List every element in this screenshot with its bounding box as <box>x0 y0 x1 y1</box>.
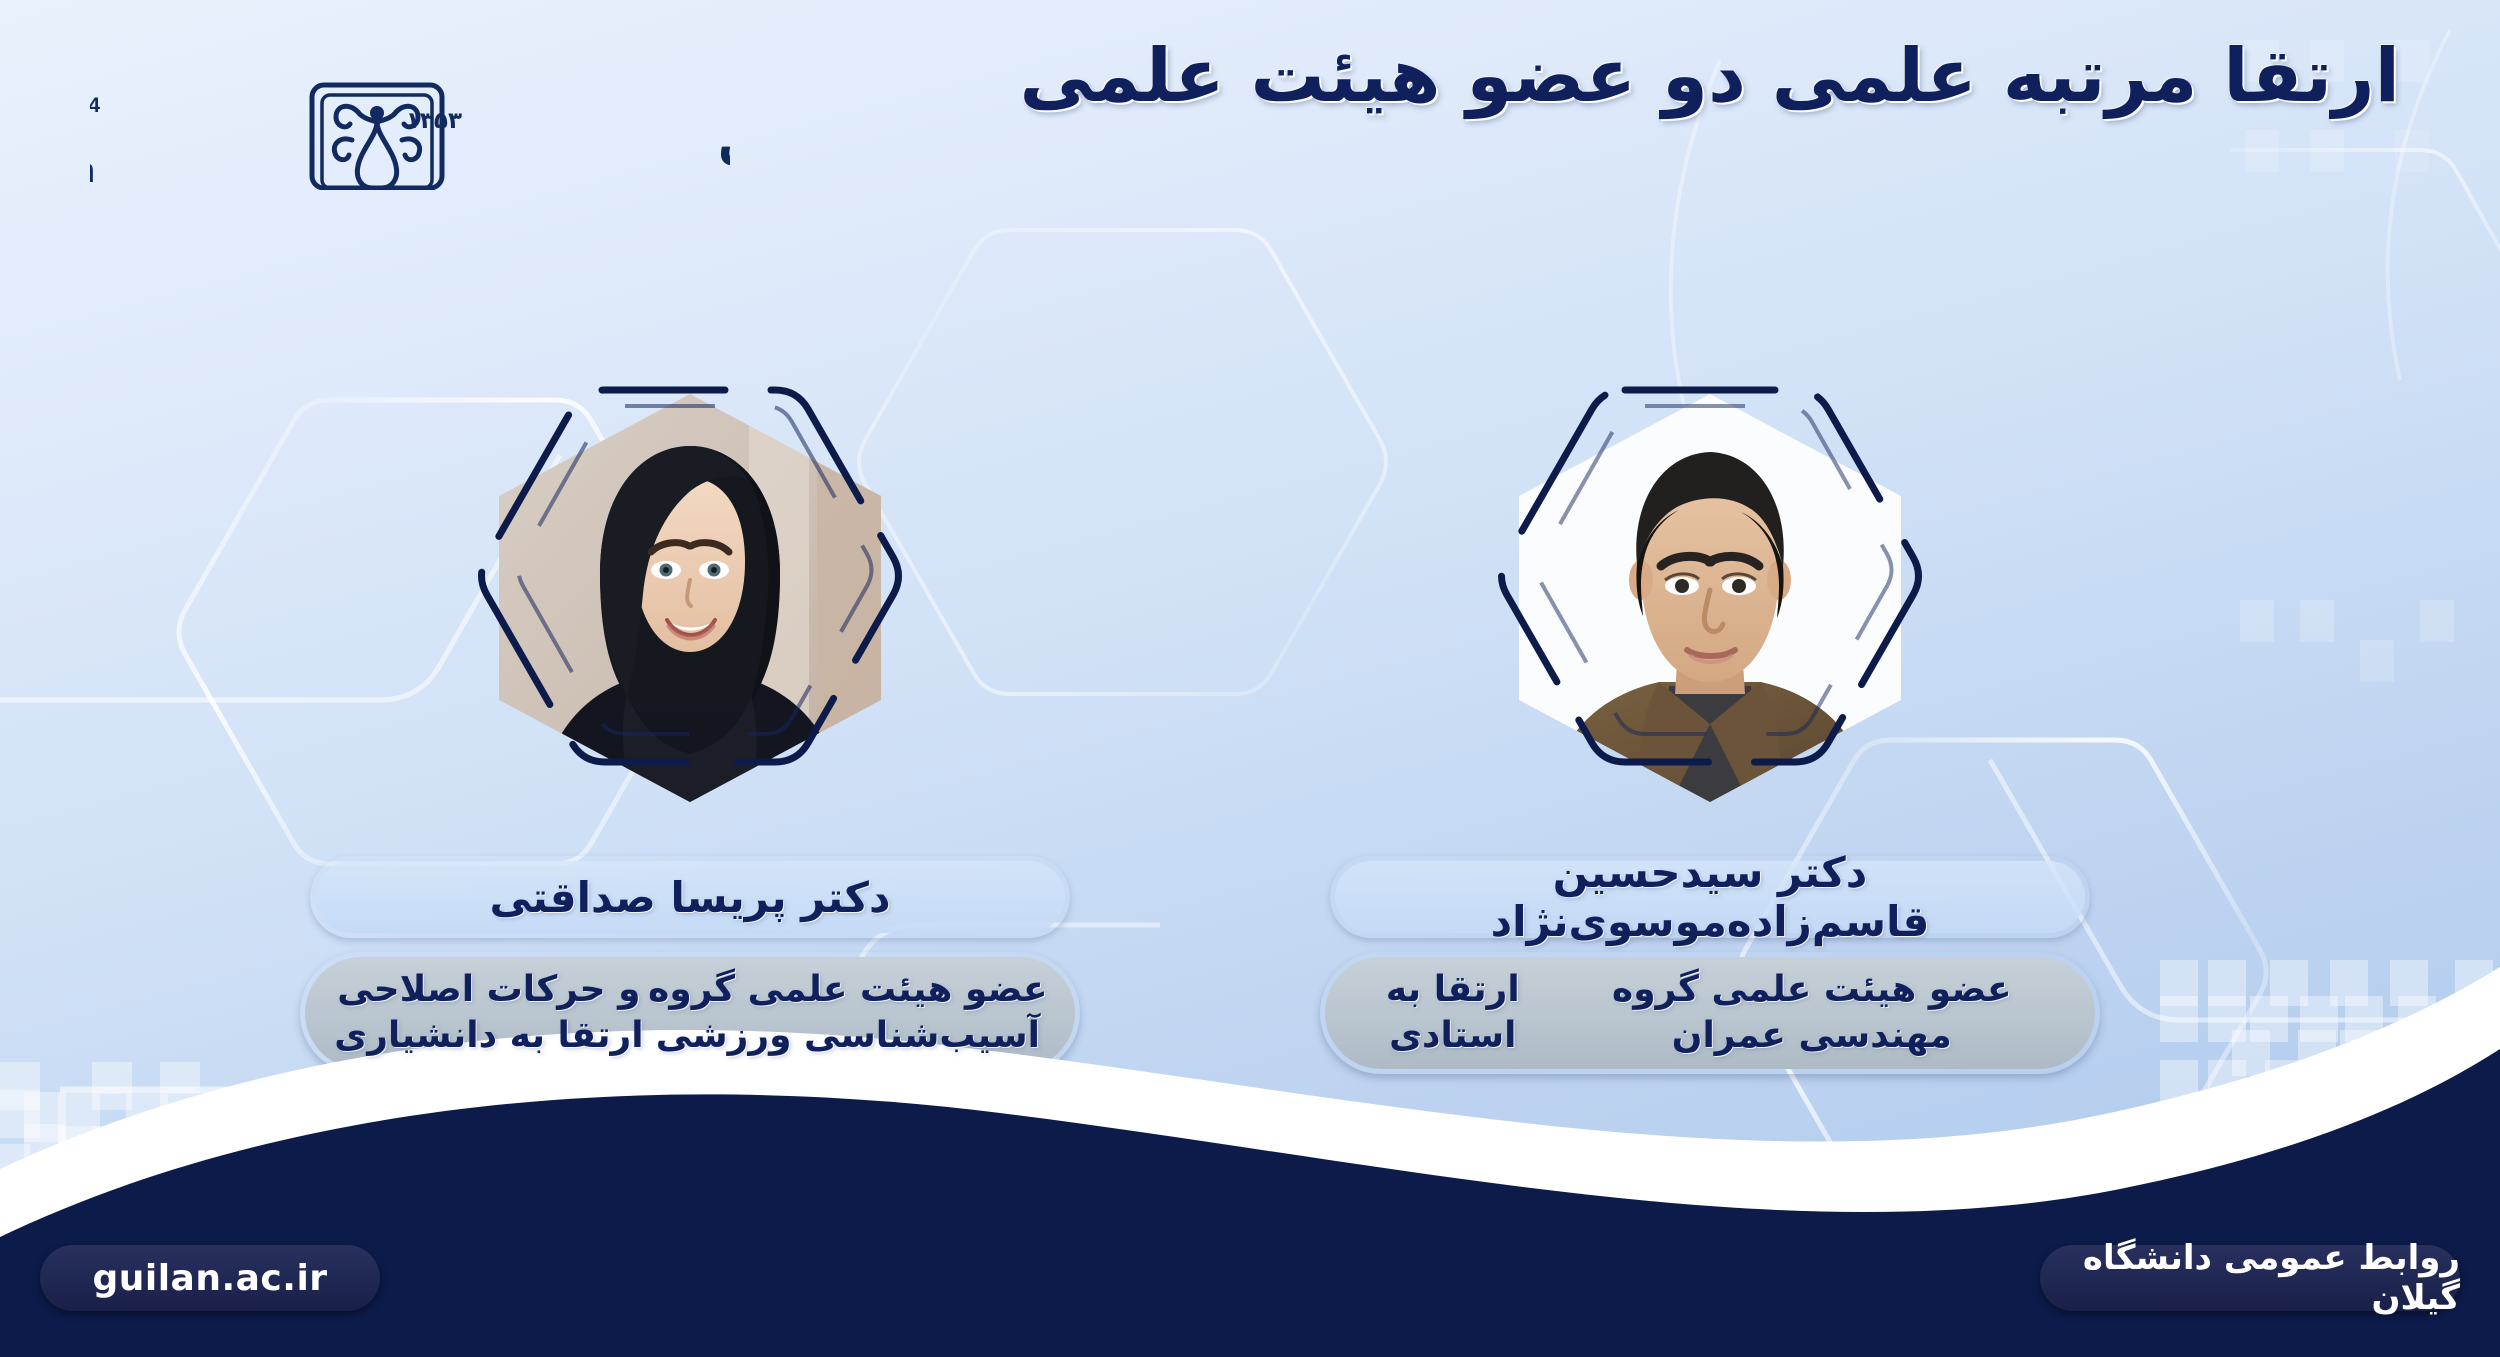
person-description-pill-left: عضو هیئت علمی گروه آسیب‌شناسی ورزشی و حر… <box>300 952 1080 1074</box>
guilan-emblem-icon: 1974 University of Guilan ۱۳۵۳ دانشگاه گ… <box>90 40 730 190</box>
university-logo: 1974 University of Guilan ۱۳۵۳ دانشگاه گ… <box>90 40 730 190</box>
person-card-ghasemzadeh-mousavinejad: دکتر سیدحسین قاسم‌زاده‌موسوی‌نژاد عضو هی… <box>1330 372 2090 1074</box>
website-pill[interactable]: guilan.ac.ir <box>40 1245 380 1311</box>
public-relations-pill: روابط عمومی دانشگاه گیلان <box>2040 1245 2460 1311</box>
portrait-hexagon-frame-right <box>1495 372 1925 824</box>
logo-en-line2: Guilan <box>90 151 102 190</box>
person-description-right-line2: ارتقا به استادی <box>1351 967 1555 1059</box>
logo-year-fa: ۱۳۵۳ <box>406 108 462 134</box>
person-card-parisa-sedaghati: دکتر پریسا صداقتی عضو هیئت علمی گروه آسی… <box>310 372 1070 1074</box>
person-description-left-line1: عضو هیئت علمی گروه آسیب‌شناسی ورزشی <box>647 967 1049 1059</box>
hexagon-border-left-icon <box>475 372 905 824</box>
person-name-right: دکتر سیدحسین قاسم‌زاده‌موسوی‌نژاد <box>1335 848 2085 946</box>
person-name-left: دکتر پریسا صداقتی <box>489 873 890 922</box>
logo-year-en: 1974 <box>90 94 100 117</box>
hexagon-border-right-icon <box>1495 372 1925 824</box>
person-description-left-line2: و حرکات اصلاحی ارتقا به دانشیاری <box>331 967 647 1059</box>
page-title: ارتقا مرتبه علمی دو عضو هیئت علمی <box>1000 28 2400 126</box>
logo-fa-name: دانشگاه گیلان <box>718 114 730 170</box>
person-description-pill-right: عضو هیئت علمی گروه مهندسی عمران ارتقا به… <box>1320 952 2100 1074</box>
person-name-pill-right: دکتر سیدحسین قاسم‌زاده‌موسوی‌نژاد <box>1330 856 2090 938</box>
person-description-right-line1: عضو هیئت علمی گروه مهندسی عمران <box>1555 967 2069 1059</box>
website-label: guilan.ac.ir <box>92 1258 327 1299</box>
public-relations-label: روابط عمومی دانشگاه گیلان <box>2040 1238 2460 1318</box>
poster-canvas: 1974 University of Guilan ۱۳۵۳ دانشگاه گ… <box>0 0 2500 1357</box>
person-name-pill-left: دکتر پریسا صداقتی <box>310 856 1070 938</box>
portrait-hexagon-frame-left <box>475 372 905 824</box>
